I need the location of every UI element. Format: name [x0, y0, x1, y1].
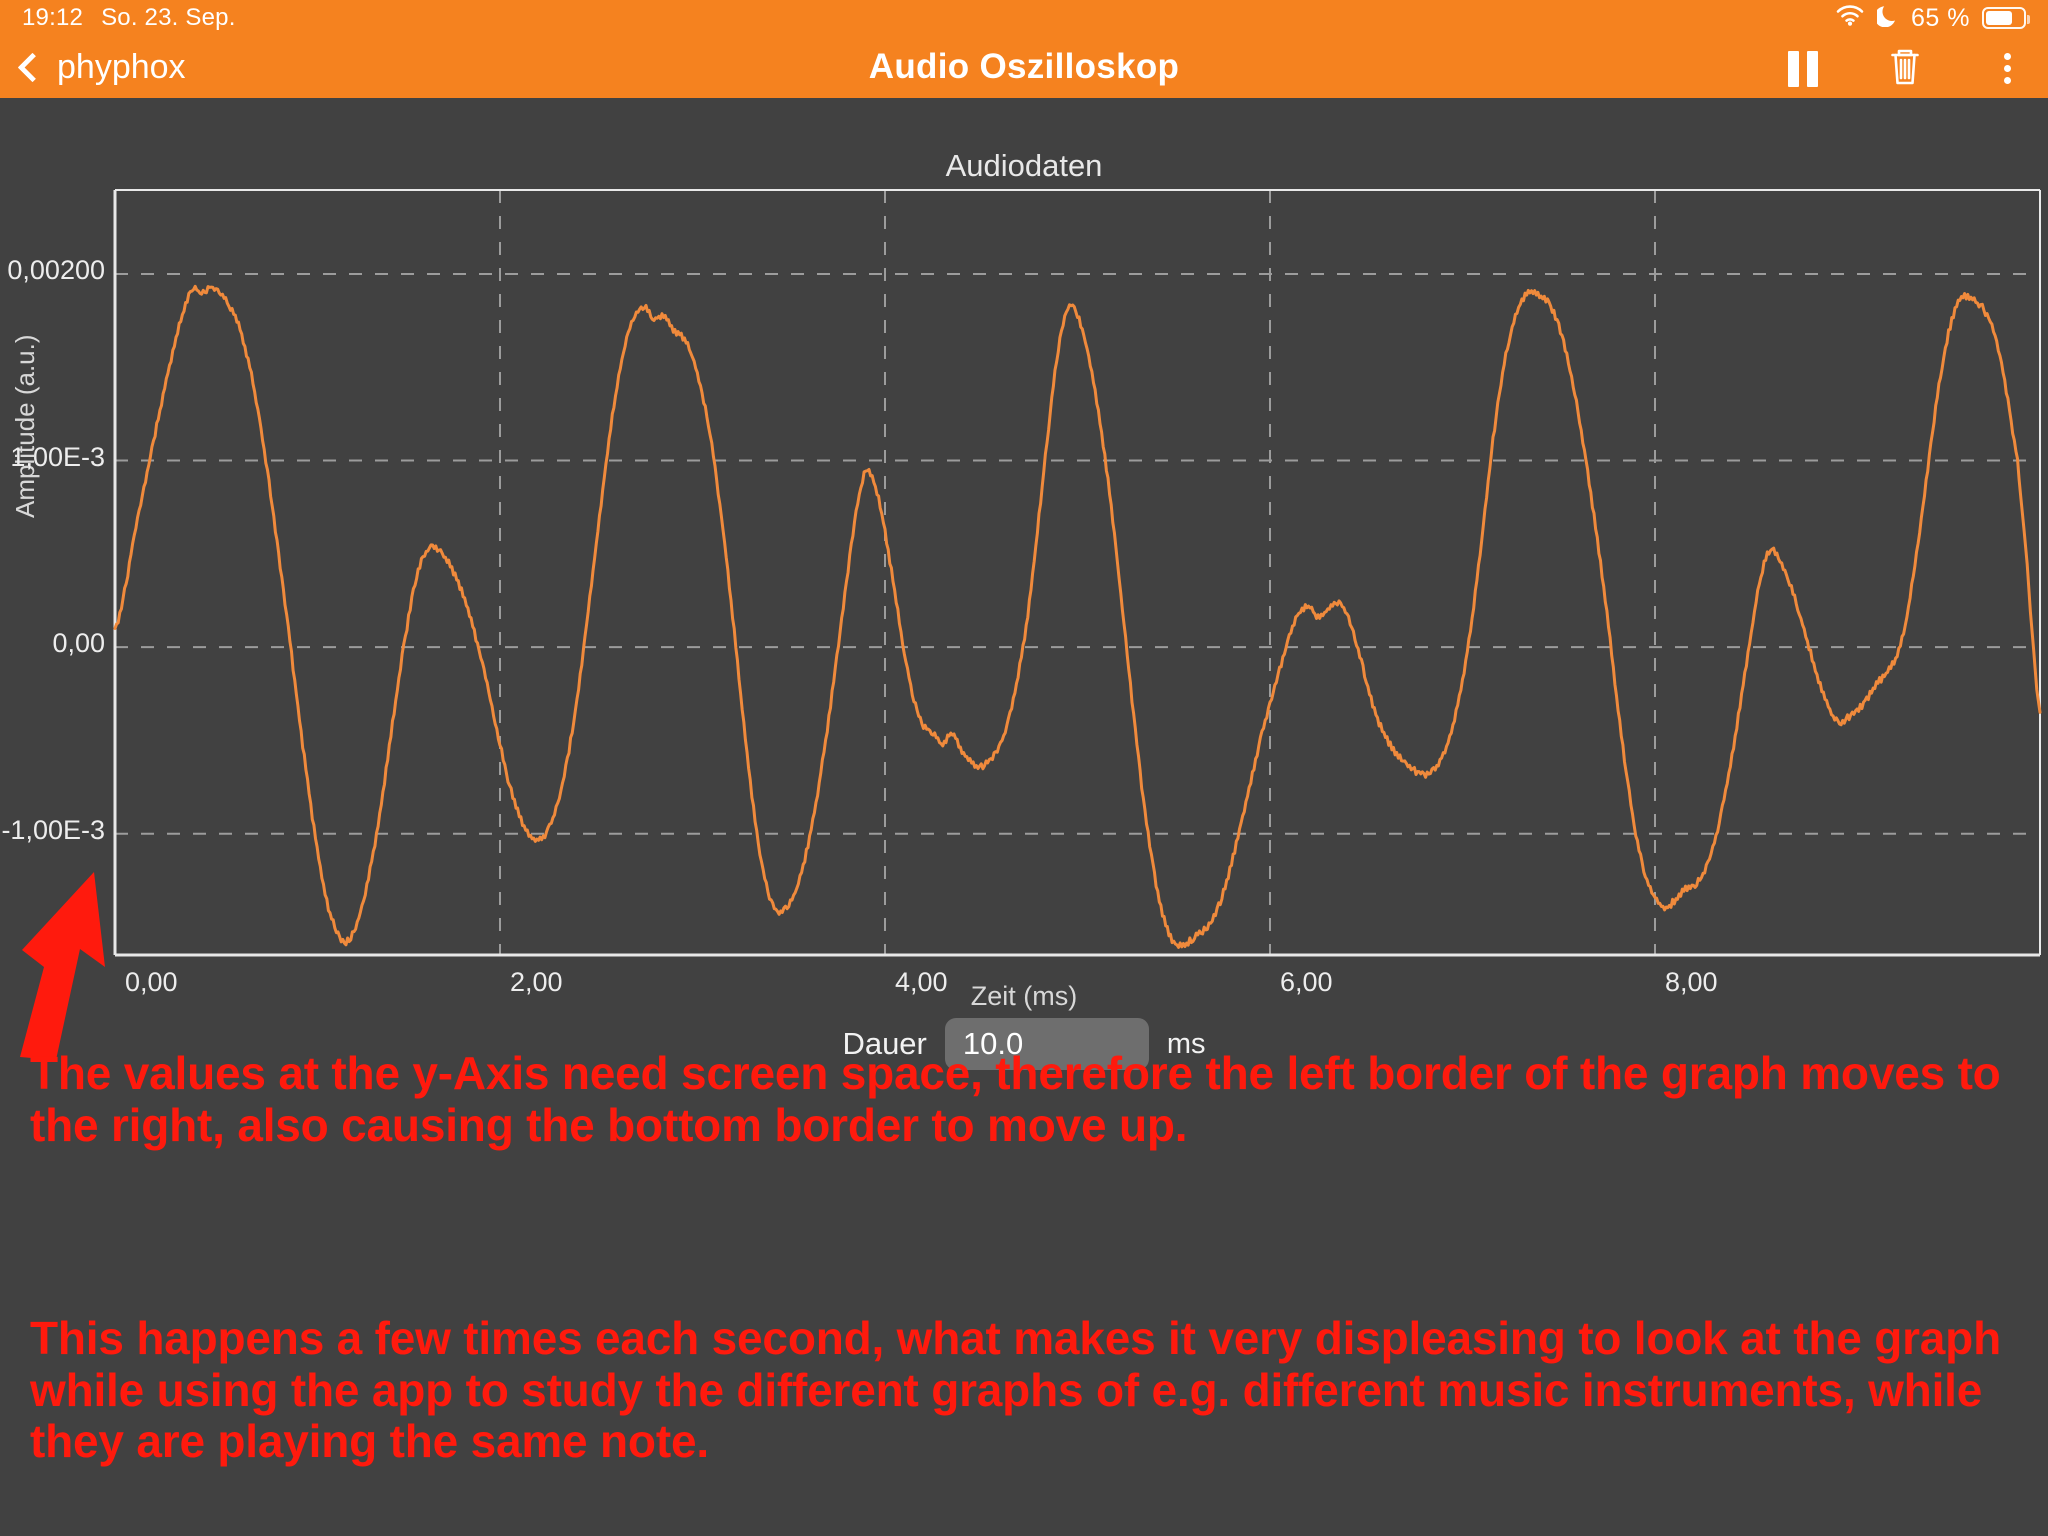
audio-waveform-plot[interactable]	[0, 98, 2048, 998]
chart-area: Amplitude (a.u.) 0,002001,00E-30,00-1,00…	[0, 98, 2048, 998]
status-bar: 19:12 So. 23. Sep. 65 %	[0, 0, 2048, 36]
status-bar-left: 19:12 So. 23. Sep.	[22, 4, 236, 32]
app-screen: 19:12 So. 23. Sep. 65 % phyphox Audio Os…	[0, 0, 2048, 1536]
more-menu-icon[interactable]	[1984, 44, 2030, 90]
page-title: Audio Oszilloskop	[0, 36, 2048, 98]
annotation-paragraph-2: This happens a few times each second, wh…	[30, 1313, 2020, 1468]
navigation-bar: phyphox Audio Oszilloskop	[0, 36, 2048, 98]
battery-icon	[1982, 7, 2026, 29]
up-right-arrow-icon	[10, 845, 140, 1060]
y-axis-label: Amplitude (a.u.)	[10, 334, 41, 518]
y-tick-label: 0,00200	[7, 255, 105, 286]
wifi-icon	[1835, 3, 1865, 34]
y-tick-label: 0,00	[52, 628, 105, 659]
x-axis-label: Zeit (ms)	[0, 981, 2048, 1012]
trash-icon[interactable]	[1882, 44, 1928, 90]
annotation-paragraph-1: The values at the y-Axis need screen spa…	[30, 1048, 2020, 1151]
pause-icon[interactable]	[1780, 44, 1826, 90]
y-tick-label: -1,00E-3	[1, 815, 105, 846]
battery-percent: 65 %	[1911, 4, 1970, 33]
navbar-actions	[1780, 36, 2030, 98]
status-time: 19:12	[22, 4, 83, 32]
status-date: So. 23. Sep.	[101, 4, 236, 32]
y-tick-label: 1,00E-3	[10, 442, 105, 473]
moon-icon	[1877, 3, 1899, 34]
status-bar-right: 65 %	[1835, 3, 2026, 34]
